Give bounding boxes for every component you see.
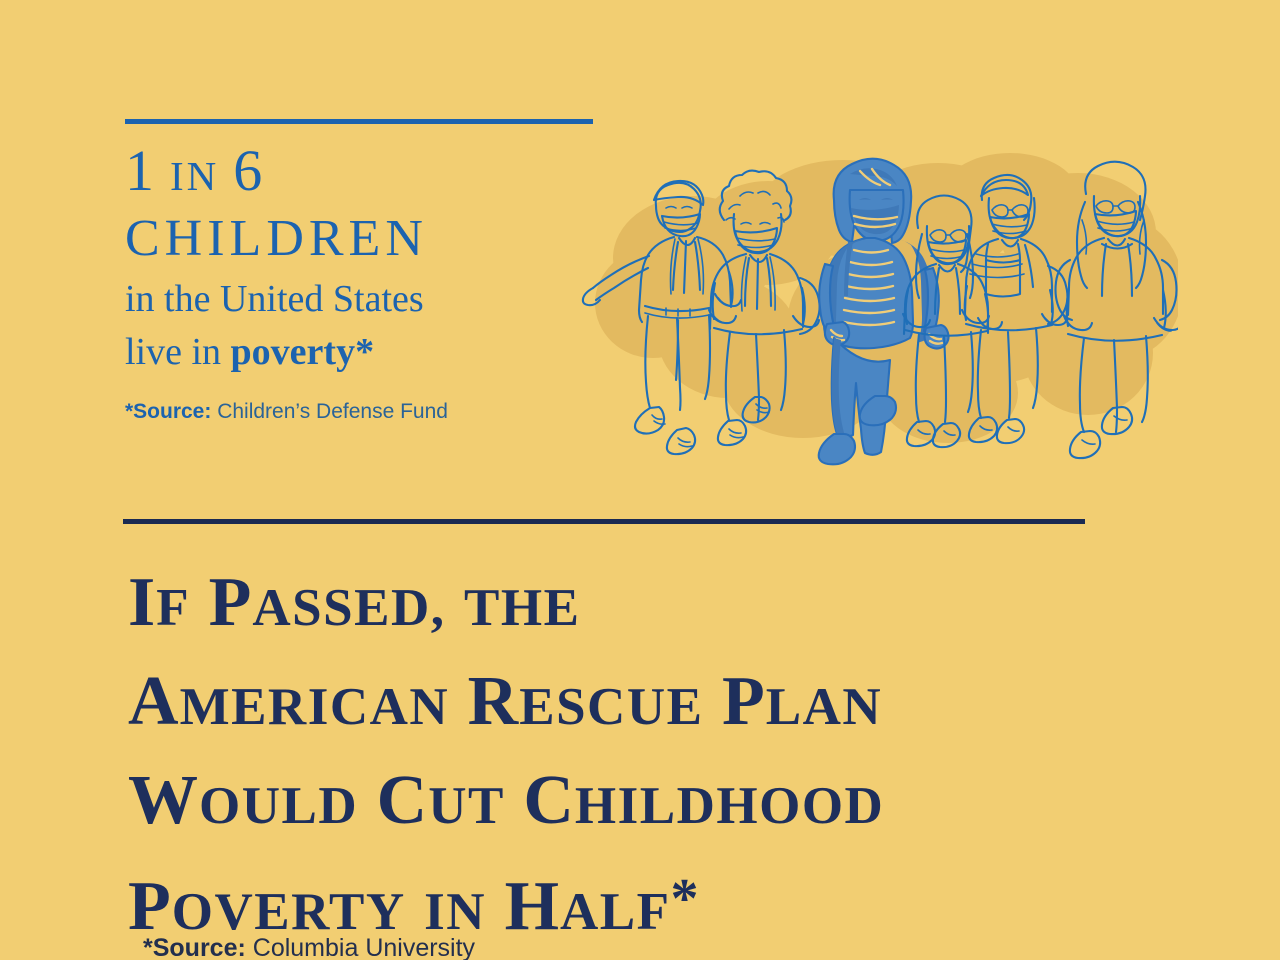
headline-rest: MERICAN (180, 678, 450, 736)
children-walking-illustration: .ol { fill:none; stroke:#1f6fb8; stroke-… (578, 138, 1178, 468)
statistic-subline-1: in the United States (125, 275, 645, 324)
page-headline: IF PASSED, THE AMERICAN RESCUE PLAN WOUL… (128, 556, 1198, 959)
statistic-source-label: *Source: (125, 400, 211, 423)
statistic-headline-line1: 1IN6 (125, 140, 645, 207)
headline-char: P (722, 663, 766, 740)
statistic-block: 1IN6 CHILDREN in the United States live … (125, 140, 645, 425)
statistic-source: *Source: Children’s Defense Fund (125, 399, 645, 425)
statistic-number-six: 6 (233, 138, 264, 203)
infographic-poster: 1IN6 CHILDREN in the United States live … (0, 0, 1280, 960)
headline-source-label: *Source: (143, 934, 246, 960)
headline-rest: UT (428, 777, 505, 835)
headline-char: A (128, 663, 180, 740)
headline-source: *Source: Columbia University (143, 933, 475, 960)
headline-rest: ASSED, (252, 579, 445, 637)
headline-char: I (128, 564, 156, 641)
headline-rest: OULD (199, 777, 358, 835)
middle-divider-rule (123, 519, 1085, 524)
headline-line-1: IF PASSED, THE (128, 556, 1198, 655)
headline-char: R (468, 663, 520, 740)
headline-char: P (209, 564, 253, 641)
statistic-subline-2-emphasis: poverty* (231, 331, 375, 373)
statistic-headline-line2: CHILDREN (125, 207, 645, 271)
headline-char: C (377, 762, 429, 839)
headline-rest: THE (464, 579, 580, 637)
top-divider-rule (125, 119, 593, 124)
headline-asterisk: * (671, 868, 700, 930)
statistic-subline-2-prefix: live in (125, 331, 231, 373)
headline-line-2: AMERICAN RESCUE PLAN (128, 655, 1198, 754)
statistic-source-value: Children’s Defense Fund (217, 400, 448, 423)
headline-rest: F (156, 579, 190, 637)
headline-rest: HILDHOOD (575, 777, 884, 835)
statistic-connector: IN (170, 153, 219, 199)
headline-rest: ESCUE (519, 678, 703, 736)
headline-rest: ALF (560, 883, 671, 941)
headline-source-value: Columbia University (253, 934, 475, 960)
headline-char: C (523, 762, 575, 839)
headline-rest: LAN (766, 678, 882, 736)
headline-line-3: WOULD CUT CHILDHOOD (128, 754, 1198, 853)
headline-char: W (128, 762, 199, 839)
headline-char: H (505, 868, 560, 945)
statistic-number-one: 1 (125, 138, 156, 203)
statistic-subline-2: live in poverty* (125, 328, 645, 377)
